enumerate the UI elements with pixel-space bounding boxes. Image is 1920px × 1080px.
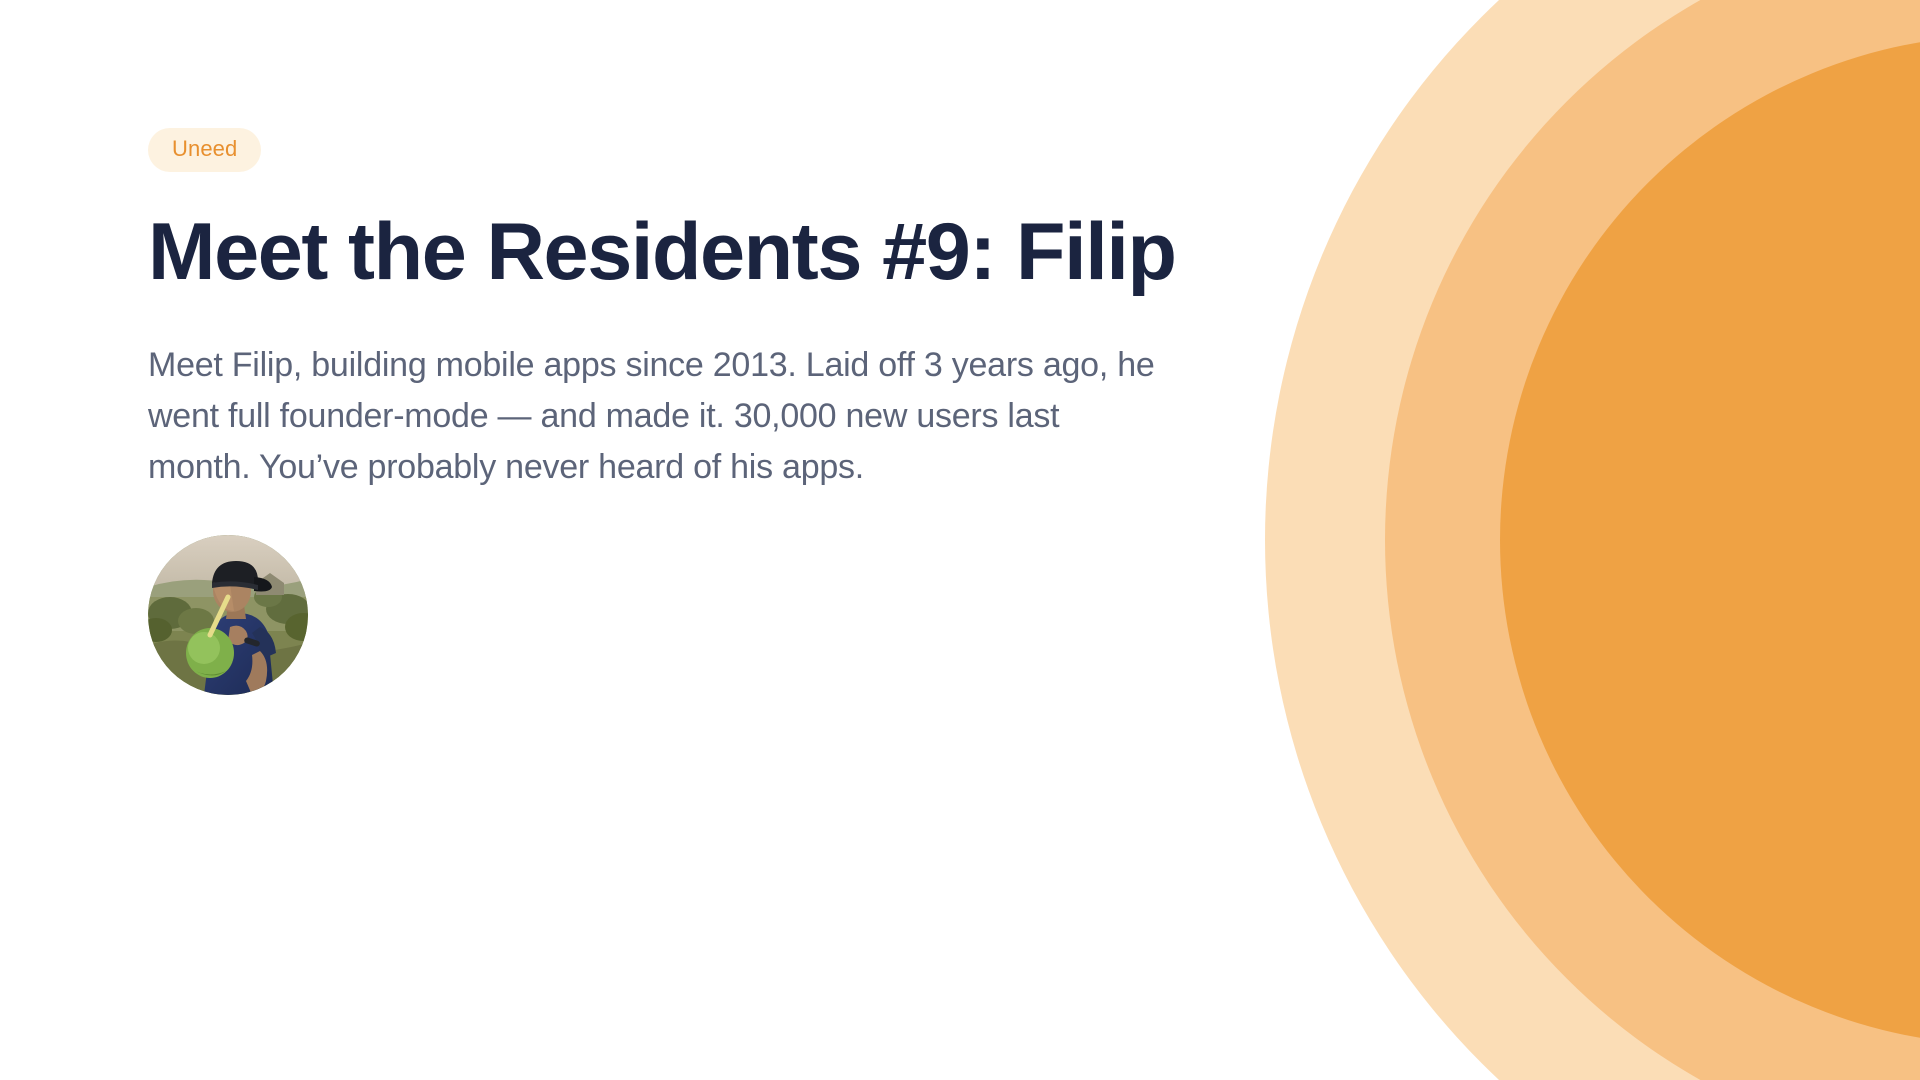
decorative-rings (1100, 0, 1920, 1080)
article-summary: Meet Filip, building mobile apps since 2… (148, 340, 1168, 493)
status-badge[interactable]: Uneed (148, 128, 261, 172)
avatar (148, 535, 308, 695)
ring-inner-icon (1500, 35, 1920, 1045)
page-title: Meet the Residents #9: Filip (148, 206, 1208, 300)
ring-mid-icon (1385, 0, 1920, 1080)
avatar-photo-icon (148, 535, 308, 695)
article-card: Uneed Meet the Residents #9: Filip Meet … (148, 128, 1208, 695)
ring-outer-icon (1265, 0, 1920, 1080)
